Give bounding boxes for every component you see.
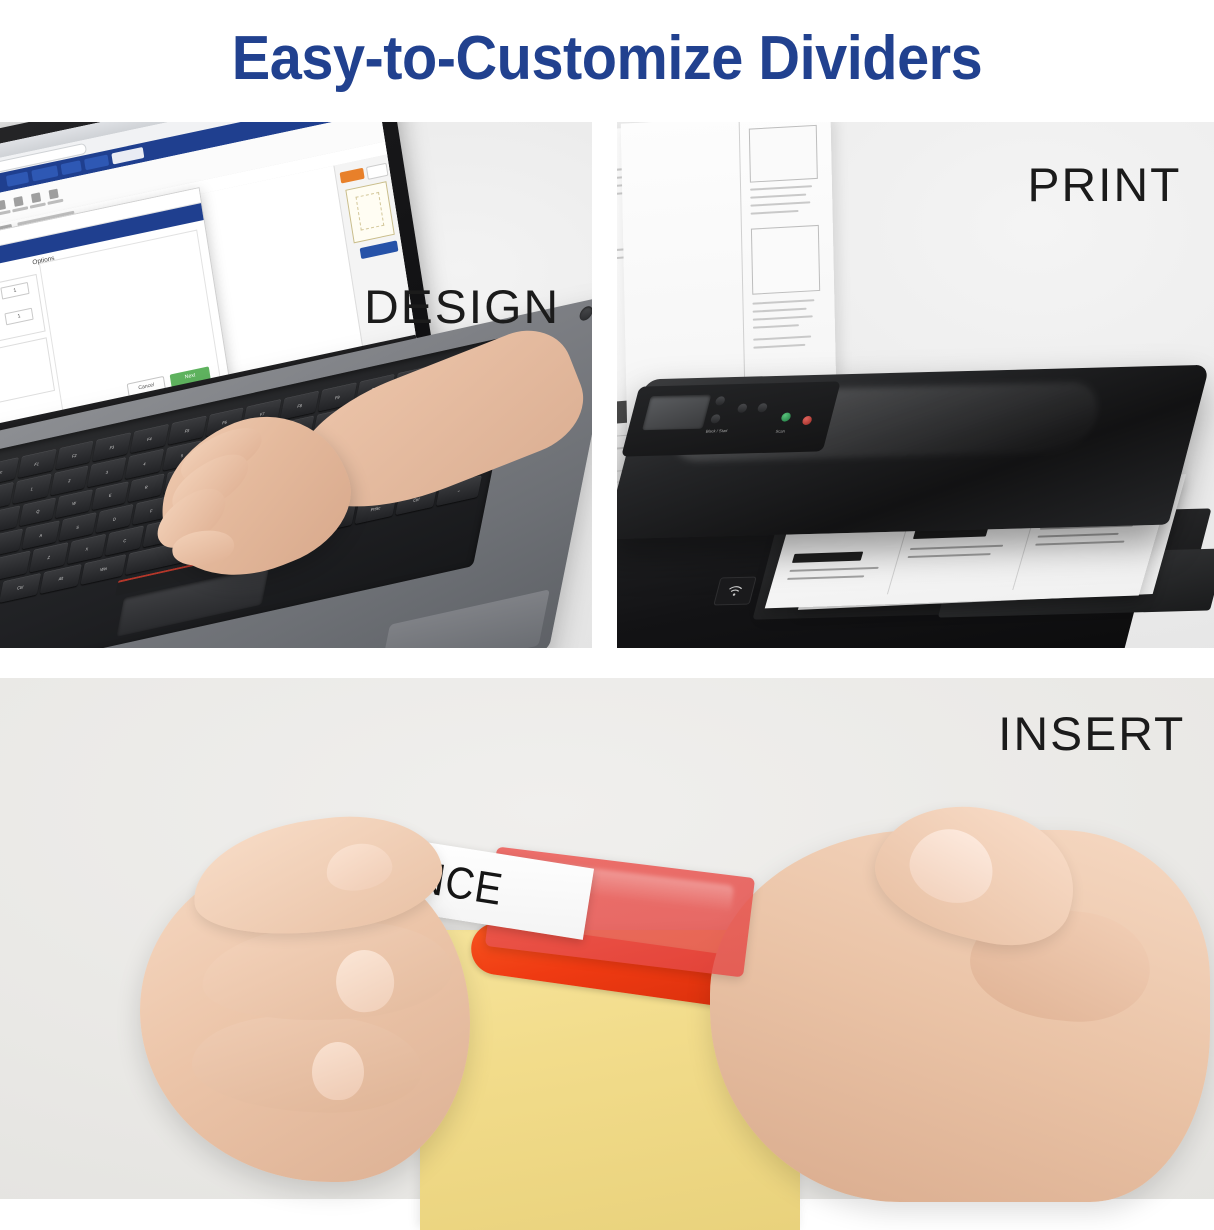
keyboard-key[interactable] <box>125 513 311 575</box>
tool-caption <box>12 206 28 212</box>
keyboard-key[interactable]: D <box>95 504 133 533</box>
tab-grid-cell[interactable]: 10 <box>113 262 175 285</box>
keyboard-key[interactable]: L <box>316 455 354 484</box>
keyboard-key[interactable]: Shift <box>409 450 487 488</box>
touchpad[interactable] <box>116 566 269 637</box>
keyboard-key[interactable]: F8 <box>280 391 319 421</box>
keyboard-key[interactable]: F2 <box>55 441 94 471</box>
tab-grid-cell[interactable]: 12 <box>114 272 176 295</box>
tab-grid-cell[interactable]: 2 <box>107 222 169 245</box>
keyboard-key[interactable]: M <box>257 492 296 522</box>
address-input[interactable] <box>0 143 87 194</box>
keyboard-key[interactable]: Win <box>81 554 127 585</box>
keyboard-key[interactable]: Z <box>29 542 68 572</box>
dialog-header-band <box>0 203 204 288</box>
browser-tab-bar <box>0 122 375 188</box>
laptop-base: EscF1F2F3F4F5F6F7F8F9F10F11F12Del~123456… <box>0 293 592 648</box>
start-tab-stepper[interactable]: 1 <box>4 308 33 326</box>
keyboard-key[interactable]: PrtSc <box>354 494 396 524</box>
keyboard-key[interactable]: 4 <box>125 449 164 479</box>
keyboard-key[interactable]: F11 <box>393 366 432 396</box>
keyboard-key[interactable]: Esc <box>0 457 19 487</box>
step-label-print: PRINT <box>1027 157 1181 212</box>
next-button[interactable]: Next <box>170 366 211 387</box>
tab-grid-cell[interactable]: 22 <box>122 322 184 345</box>
app-toolbar <box>0 122 385 253</box>
browser-window: 1234567891011121314151617181920212223242… <box>0 122 419 465</box>
keyboard-row: TabQWERTYUIOP[]\ <box>0 399 497 537</box>
tab-grid-cell[interactable]: 11 <box>54 285 116 308</box>
nav-item[interactable] <box>61 160 82 175</box>
keyboard-key[interactable]: I <box>272 441 310 470</box>
keyboard-row: ShiftZXCVBNM,./Shift <box>0 450 487 588</box>
keyboard-key[interactable]: F9 <box>318 382 357 412</box>
keyboard-key[interactable]: 5 <box>163 441 202 471</box>
page-title: Easy-to-Customize Dividers <box>42 0 1171 116</box>
trackpoint-buttons[interactable] <box>115 551 254 596</box>
divider-sheet-preview: 1234567891011121314151617181920212223242… <box>27 208 211 429</box>
tab-grid-cell[interactable]: 26 <box>126 342 188 365</box>
dialog-radio-group <box>0 337 55 420</box>
dividers-creator-dialog: Dividers Creator Options Number of Sets … <box>0 187 231 452</box>
keyboard-key[interactable]: ] <box>417 409 455 438</box>
tab-grid-cell[interactable]: 18 <box>119 302 181 325</box>
keyboard-key[interactable]: = <box>426 382 465 412</box>
keyboard-key[interactable]: X <box>67 534 106 564</box>
tab-grid-cell[interactable]: 9 <box>52 275 114 298</box>
finger <box>148 478 235 559</box>
power-button[interactable] <box>578 305 592 322</box>
tab-grid-cell[interactable]: 16 <box>118 292 180 315</box>
image-tool-icon[interactable] <box>0 200 6 211</box>
tool-caption <box>0 210 11 216</box>
panel-print: Advantages Insertion Tips <box>617 122 1214 648</box>
shape-tool-icon[interactable] <box>13 196 23 207</box>
keyboard-key[interactable]: Caps <box>0 528 23 562</box>
keyboard-key[interactable]: E <box>91 481 129 510</box>
keyboard-key[interactable]: F <box>132 496 170 525</box>
edit-button[interactable] <box>340 168 365 184</box>
right-hand <box>640 790 1214 1202</box>
keyboard-key[interactable]: V <box>143 517 182 547</box>
keyboard-key[interactable]: R <box>128 473 166 502</box>
design-canvas[interactable]: 1234567891011121314151617181920212223242… <box>0 166 364 449</box>
step-label-insert: INSERT <box>998 706 1185 761</box>
dialog-preview-pane <box>39 230 221 414</box>
dialog-field-group <box>0 274 46 361</box>
keyboard-key[interactable]: - <box>388 391 427 421</box>
tab-grid-cell[interactable]: 17 <box>59 315 121 338</box>
tab-grid-cell[interactable]: 6 <box>110 242 172 265</box>
keyboard-key[interactable]: Ctrl <box>395 485 437 515</box>
tab-grid-cell[interactable]: 3 <box>48 244 110 267</box>
keyboard-key[interactable]: P <box>344 425 382 454</box>
keyboard[interactable]: EscF1F2F3F4F5F6F7F8F9F10F11F12Del~123456… <box>0 334 520 648</box>
tab-grid-cell[interactable]: 15 <box>57 305 119 328</box>
laptop-screen: 1234567891011121314151617181920212223242… <box>0 122 419 465</box>
keyboard-key[interactable]: J <box>243 471 281 500</box>
button-label-scan: Scan <box>775 429 785 434</box>
keyboard-key[interactable]: Enter <box>427 425 492 460</box>
keyboard-key[interactable]: ' <box>390 439 428 468</box>
keyboard-row: ~1234567890-=Bksp <box>0 374 502 512</box>
tab-grid-cell[interactable]: 25 <box>65 355 127 378</box>
left-hand <box>140 792 570 1202</box>
keyboard-key[interactable]: \ <box>453 399 497 430</box>
keyboard-key[interactable]: ~ <box>0 482 14 512</box>
keyboard-key[interactable]: F3 <box>92 432 131 462</box>
browser-url-bar <box>0 122 378 204</box>
tab-grid-cell[interactable]: 21 <box>62 335 124 358</box>
keyboard-key[interactable]: 9 <box>313 407 352 437</box>
tab-grid-cell[interactable]: 14 <box>116 282 178 305</box>
design-panel-background <box>0 122 592 648</box>
keyboard-key[interactable]: F4 <box>130 424 169 454</box>
tab-grid-cell[interactable]: 20 <box>121 312 183 335</box>
cancel-button[interactable]: Cancel <box>127 376 166 399</box>
tab-grid-cell[interactable]: 19 <box>60 325 122 348</box>
keyboard-key[interactable]: 2 <box>50 466 89 496</box>
keyboard-key[interactable]: 0 <box>350 399 389 429</box>
dialog-section-title: Options <box>0 220 206 302</box>
tab-grid-cell[interactable]: 4 <box>108 232 170 255</box>
keyboard-key[interactable]: C <box>105 526 144 556</box>
keyboard-key[interactable]: K <box>279 463 317 492</box>
tool-caption <box>30 202 46 208</box>
keyboard-key[interactable]: S <box>59 512 97 541</box>
finger <box>163 444 257 525</box>
keyboard-key[interactable]: / <box>371 467 410 497</box>
keyboard-key[interactable]: F5 <box>168 416 207 446</box>
keyboard-key[interactable]: G <box>169 488 207 517</box>
keyboard-key[interactable]: U <box>236 449 274 478</box>
tab-grid-cell[interactable]: 7 <box>51 265 113 288</box>
keyboard-key[interactable]: F12 <box>431 357 470 387</box>
dialog-title: Dividers Creator <box>0 188 201 271</box>
tab-grid-cell[interactable]: 13 <box>55 295 117 318</box>
printer-lcd-display <box>642 395 711 431</box>
breadcrumb-item[interactable] <box>0 224 12 236</box>
keyboard-key[interactable]: F6 <box>205 407 244 437</box>
keyboard-key[interactable]: Shift <box>0 551 31 588</box>
trackpoint-nub[interactable] <box>219 516 227 525</box>
keyboard-key[interactable]: T <box>164 465 202 494</box>
tool-caption <box>47 199 63 205</box>
palm <box>138 391 370 600</box>
finger <box>174 418 270 492</box>
tab-grid-cell[interactable]: 23 <box>63 345 125 368</box>
wifi-icon <box>713 577 757 606</box>
product-feature-image: Easy-to-Customize Dividers <box>0 0 1214 1199</box>
page-thumbnail[interactable] <box>345 181 395 243</box>
keyboard-key[interactable]: [ <box>381 417 419 446</box>
keyboard-key[interactable]: . <box>333 475 372 505</box>
keyboard-key[interactable]: Alt <box>310 503 356 534</box>
forearm <box>275 316 592 538</box>
printer-control-panel[interactable]: Black / Start Scan <box>621 381 841 456</box>
breadcrumb <box>0 141 387 265</box>
palmrest-right <box>379 589 550 648</box>
tab-grid-cell[interactable]: 8 <box>111 252 173 275</box>
keyboard-key[interactable]: Ctrl <box>0 573 41 603</box>
breadcrumb-item <box>17 211 75 229</box>
tab-grid: 1234567891011121314151617181920212223242… <box>45 220 192 399</box>
keyboard-key[interactable]: H <box>206 480 244 509</box>
keyboard-row: FnCtrlAltWinAltPrtScCtrl← <box>0 475 482 613</box>
preview-button[interactable] <box>360 240 399 259</box>
keyboard-key[interactable]: Bksp <box>463 374 502 404</box>
tab-grid-cell[interactable]: 24 <box>124 332 186 355</box>
align-tool-icon[interactable] <box>49 189 59 200</box>
nav-item[interactable] <box>6 171 29 186</box>
doc-illustration <box>751 225 820 295</box>
fingernail <box>312 1042 364 1100</box>
keyboard-key[interactable]: B <box>181 509 220 539</box>
undo-button[interactable] <box>366 163 389 180</box>
keyboard-key[interactable]: F7 <box>243 399 282 429</box>
keyboard-key[interactable]: W <box>55 489 93 518</box>
keyboard-key[interactable]: Fn <box>0 582 1 613</box>
keyboard-key[interactable]: 1 <box>12 474 51 504</box>
tab-grid-cell[interactable]: 5 <box>49 255 111 278</box>
nav-account-button[interactable] <box>111 147 144 165</box>
keyboard-key[interactable]: F1 <box>17 449 56 479</box>
color-tool-icon[interactable] <box>31 192 41 203</box>
tab-grid-cell[interactable]: 1 <box>46 234 108 257</box>
nav-item[interactable] <box>84 154 109 170</box>
keyboard-key[interactable]: Q <box>19 497 57 526</box>
keyboard-key[interactable]: ← <box>436 475 482 506</box>
keyboard-key[interactable]: O <box>308 433 346 462</box>
keyboard-key[interactable]: 3 <box>87 457 126 487</box>
laptop-device: 1234567891011121314151617181920212223242… <box>0 122 592 648</box>
keyboard-key[interactable]: Del <box>468 349 507 379</box>
scan-start-button[interactable] <box>780 412 791 421</box>
hand-on-keyboard <box>99 286 592 648</box>
keyboard-key[interactable]: N <box>219 500 258 530</box>
setup-button[interactable] <box>757 403 768 412</box>
keyboard-key[interactable]: F10 <box>355 374 394 404</box>
tab-grid-cell[interactable]: 30 <box>129 362 191 385</box>
keyboard-key[interactable]: 6 <box>200 432 239 462</box>
button-label-black-start: Black / Start <box>705 428 728 434</box>
keyboard-key[interactable]: Tab <box>0 505 21 537</box>
keyboard-row: EscF1F2F3F4F5F6F7F8F9F10F11F12Del <box>0 349 507 487</box>
keyboard-key[interactable]: A <box>22 520 60 549</box>
nav-item[interactable] <box>31 165 58 181</box>
sets-stepper[interactable]: 1 <box>0 282 29 300</box>
menu-button[interactable] <box>737 404 748 413</box>
panel-design: 1234567891011121314151617181920212223242… <box>0 122 592 648</box>
keyboard-row: CapsASDFGHJKL;'Enter <box>0 425 492 563</box>
keyboard-key[interactable]: 7 <box>238 424 277 454</box>
keyboard-key[interactable]: Alt <box>40 564 82 594</box>
tab-grid-cell[interactable]: 29 <box>68 375 130 398</box>
nav-down-button[interactable] <box>710 414 721 423</box>
tab-grid-cell[interactable]: 28 <box>127 352 189 375</box>
keyboard-key[interactable]: ; <box>353 447 391 476</box>
step-label-design: DESIGN <box>364 279 560 334</box>
doc-illustration <box>749 125 818 183</box>
keyboard-key[interactable]: Y <box>200 457 238 486</box>
tab-grid-cell[interactable]: 27 <box>67 365 129 388</box>
keyboard-key[interactable]: 8 <box>275 416 314 446</box>
thumb <box>170 527 236 569</box>
screen-bezel-chin <box>0 335 419 465</box>
app-navbar <box>0 122 380 222</box>
stop-reset-button[interactable] <box>801 416 812 425</box>
nav-up-button[interactable] <box>715 396 726 405</box>
keyboard-key[interactable]: , <box>295 484 334 514</box>
